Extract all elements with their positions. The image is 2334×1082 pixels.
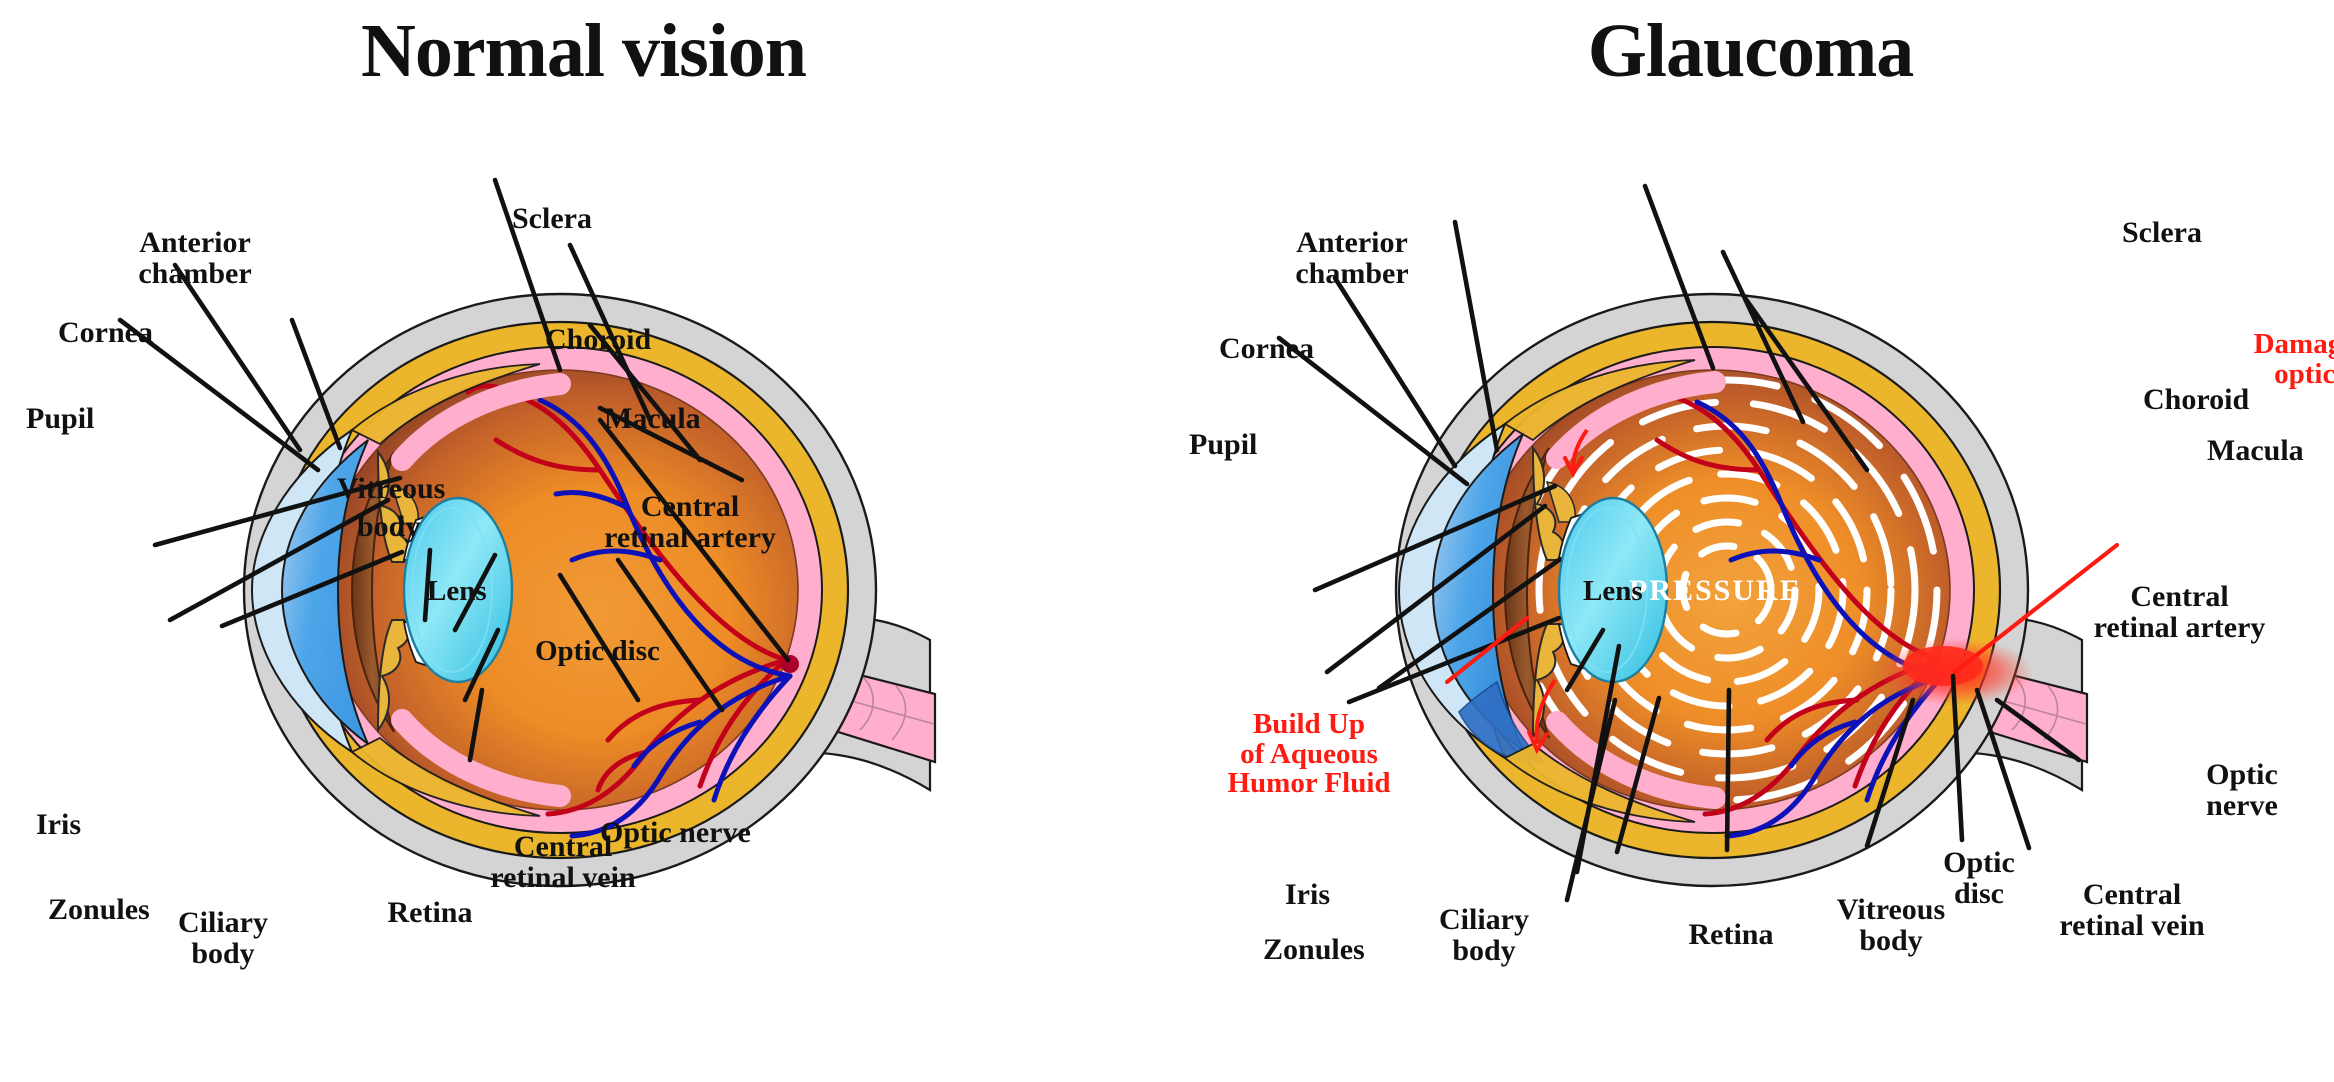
callout-anterior-chamber: Anterior chamber bbox=[100, 228, 290, 289]
inner-label-optic-disc: Optic disc bbox=[535, 635, 660, 667]
callout-sclera: Sclera bbox=[2122, 218, 2322, 249]
annotation-build-up-of-aqueous-humor-fluid: Build Up of Aqueous Humor Fluid bbox=[1189, 710, 1429, 799]
callout-ciliary-body: Ciliary body bbox=[128, 908, 318, 969]
callout-optic-nerve: Optic nerve bbox=[2167, 760, 2317, 821]
callout-pupil: Pupil bbox=[1189, 430, 1359, 461]
inner-label-lens: Lens bbox=[1583, 575, 1643, 607]
callout-central-retinal-vein: Central retinal vein bbox=[2007, 880, 2257, 941]
callout-pupil: Pupil bbox=[26, 404, 196, 435]
panel-glaucoma: Glaucoma bbox=[1167, 0, 2334, 1082]
callout-macula: Macula bbox=[2207, 436, 2334, 467]
callout-ciliary-body: Ciliary body bbox=[1389, 905, 1579, 966]
inner-label-pressure: PRESSURE bbox=[1629, 574, 1802, 607]
panel-normal-vision: Normal vision bbox=[0, 0, 1167, 1082]
callout-sclera: Sclera bbox=[512, 204, 712, 235]
callout-cornea: Cornea bbox=[58, 318, 248, 349]
callout-optic-nerve: Optic nerve bbox=[600, 818, 850, 849]
vitreous-body-region bbox=[322, 370, 798, 810]
inner-label-lens: Lens bbox=[427, 575, 487, 607]
callout-iris: Iris bbox=[36, 810, 196, 841]
annotation-damage-to-the-optic-nerve: Damage to the optic nerve bbox=[2215, 330, 2334, 389]
callout-anterior-chamber: Anterior chamber bbox=[1257, 228, 1447, 289]
callout-cornea: Cornea bbox=[1219, 334, 1409, 365]
callout-choroid: Choroid bbox=[2143, 385, 2334, 416]
callout-central-retinal-artery: Central retinal artery bbox=[2047, 582, 2312, 643]
callout-central-retinal-artery: Central retinal artery bbox=[560, 492, 820, 553]
figure-canvas: Normal vision bbox=[0, 0, 2334, 1082]
callout-macula: Macula bbox=[604, 404, 804, 435]
callout-choroid: Choroid bbox=[545, 325, 745, 356]
callout-retina: Retina bbox=[330, 898, 530, 929]
